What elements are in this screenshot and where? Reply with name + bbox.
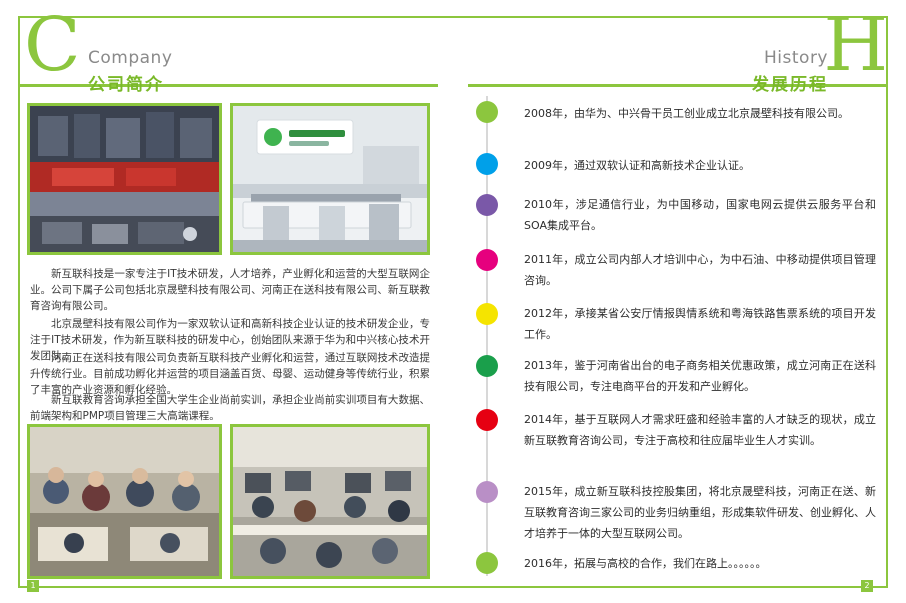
history-heading-cn: 发展历程: [752, 70, 828, 95]
timeline-text-2014: 2014年，基于互联网人才需求旺盛和经验丰富的人才缺乏的现状，成立新互联教育咨询…: [524, 409, 876, 451]
header-rule-left: [18, 84, 438, 87]
company-initial-letter: C: [24, 8, 81, 82]
timeline-text-2009: 2009年，通过双软认证和高新技术企业认证。: [524, 155, 876, 176]
timeline-text-2013: 2013年，鉴于河南省出台的电子商务相关优惠政策，成立河南正在送科技有限公司，专…: [524, 355, 876, 397]
timeline-dot-2008: [476, 101, 498, 123]
timeline-dot-2009: [476, 153, 498, 175]
company-heading-cn: 公司简介: [88, 70, 164, 95]
timeline-dot-2016: [476, 552, 498, 574]
timeline-dot-2013: [476, 355, 498, 377]
timeline-text-2011: 2011年，成立公司内部人才培训中心，为中石油、中移动提供项目管理咨询。: [524, 249, 876, 291]
timeline-text-2008: 2008年，由华为、中兴骨干员工创业成立北京晟壁科技有限公司。: [524, 103, 876, 124]
company-heading-en: Company: [88, 48, 172, 68]
company-paragraph-3: 河南正在送科技有限公司负责新互联科技产业孵化和运营，通过互联网技术改造提升传统行…: [30, 350, 430, 398]
company-paragraph-1: 新互联科技是一家专注于IT技术研发，人才培养，产业孵化和运营的大型互联网企业。公…: [30, 266, 430, 314]
timeline-text-2010: 2010年，涉足通信行业，为中国移动，国家电网云提供云服务平台和SOA集成平台。: [524, 194, 876, 236]
computer-lab-photo: [230, 424, 430, 579]
storefront-night-photo: [27, 103, 222, 255]
timeline-dot-2014: [476, 409, 498, 431]
frame-top-border: [18, 16, 888, 18]
company-paragraph-4: 新互联教育咨询承担全国大学生企业尚前实训，承担企业尚前实训项目有大数据、前端架构…: [30, 392, 430, 424]
timeline-dot-2012: [476, 303, 498, 325]
frame-bottom-border: [18, 586, 888, 588]
timeline-text-2015: 2015年，成立新互联科技控股集团，将北京晟壁科技，河南正在送、新互联教育咨询三…: [524, 481, 876, 544]
frame-right-border: [886, 16, 888, 588]
timeline-dot-2010: [476, 194, 498, 216]
classroom-meeting-photo: [27, 424, 222, 579]
page-number-right: 2: [861, 580, 873, 592]
office-reception-photo: [230, 103, 430, 255]
history-initial-letter: H: [823, 8, 888, 82]
timeline-text-2012: 2012年，承接某省公安厅情报舆情系统和粤海铁路售票系统的项目开发工作。: [524, 303, 876, 345]
timeline-text-2016: 2016年，拓展与高校的合作，我们在路上。。。。。。: [524, 553, 876, 574]
history-heading-en: History: [764, 48, 828, 68]
page-number-left: 1: [27, 580, 39, 592]
frame-left-border: [18, 16, 20, 588]
timeline-dot-2015: [476, 481, 498, 503]
timeline-dot-2011: [476, 249, 498, 271]
slide-page: C Company 公司简介 H History 发展历程: [0, 0, 906, 603]
